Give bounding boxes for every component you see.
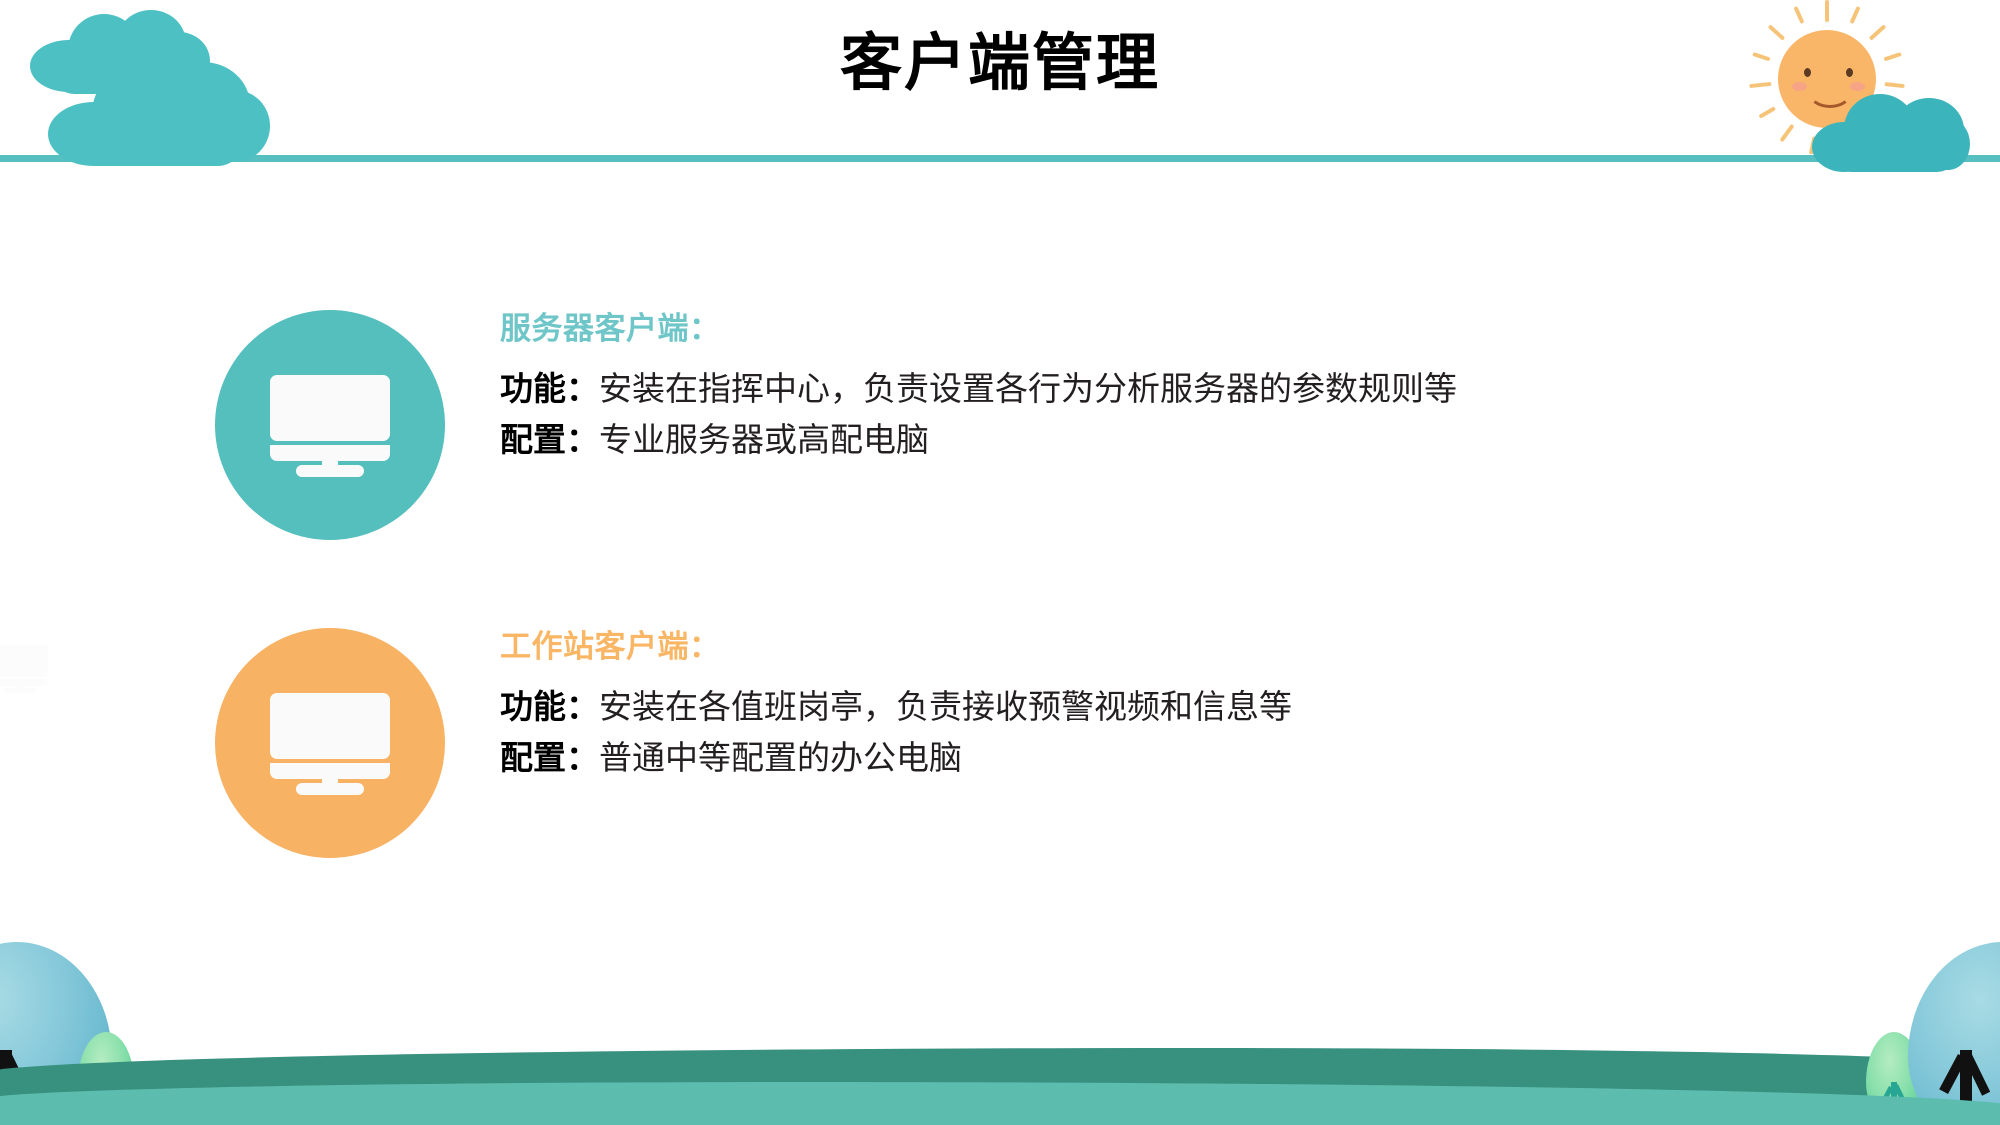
cloud-icon-sun <box>1812 92 1970 172</box>
icon-badge-server-client <box>215 310 445 540</box>
desktop-monitor-icon-ghost <box>0 645 48 693</box>
block-heading-server-client: 服务器客户端： <box>500 310 2000 347</box>
desktop-monitor-icon <box>270 693 390 793</box>
page-title: 客户端管理 <box>0 30 2000 98</box>
monitor-screen <box>270 693 390 759</box>
content-text-workstation-client: 工作站客户端： 功能：安装在各值班岗亭，负责接收预警视频和信息等 配置：普通中等… <box>500 628 2000 783</box>
detail-label: 功能： <box>500 688 599 725</box>
detail-line: 配置：专业服务器或高配电脑 <box>500 414 2000 465</box>
monitor-foot <box>296 783 364 795</box>
header-divider <box>0 155 2000 162</box>
monitor-foot <box>296 465 364 477</box>
detail-value: 安装在指挥中心，负责设置各行为分析服务器的参数规则等 <box>599 370 1457 407</box>
detail-label: 功能： <box>500 370 599 407</box>
detail-label: 配置： <box>500 421 599 458</box>
detail-value: 专业服务器或高配电脑 <box>599 421 929 458</box>
icon-badge-workstation-client <box>215 628 445 858</box>
monitor-screen <box>270 375 390 441</box>
detail-value: 安装在各值班岗亭，负责接收预警视频和信息等 <box>599 688 1292 725</box>
block-heading-workstation-client: 工作站客户端： <box>500 628 2000 665</box>
content-text-server-client: 服务器客户端： 功能：安装在指挥中心，负责设置各行为分析服务器的参数规则等 配置… <box>500 310 2000 465</box>
slide-canvas: 客户端管理 <box>0 0 2000 1125</box>
detail-line: 功能：安装在指挥中心，负责设置各行为分析服务器的参数规则等 <box>500 363 2000 414</box>
detail-label: 配置： <box>500 739 599 776</box>
detail-line: 配置：普通中等配置的办公电脑 <box>500 732 2000 783</box>
desktop-monitor-icon <box>270 375 390 475</box>
detail-line: 功能：安装在各值班岗亭，负责接收预警视频和信息等 <box>500 681 2000 732</box>
detail-value: 普通中等配置的办公电脑 <box>599 739 962 776</box>
